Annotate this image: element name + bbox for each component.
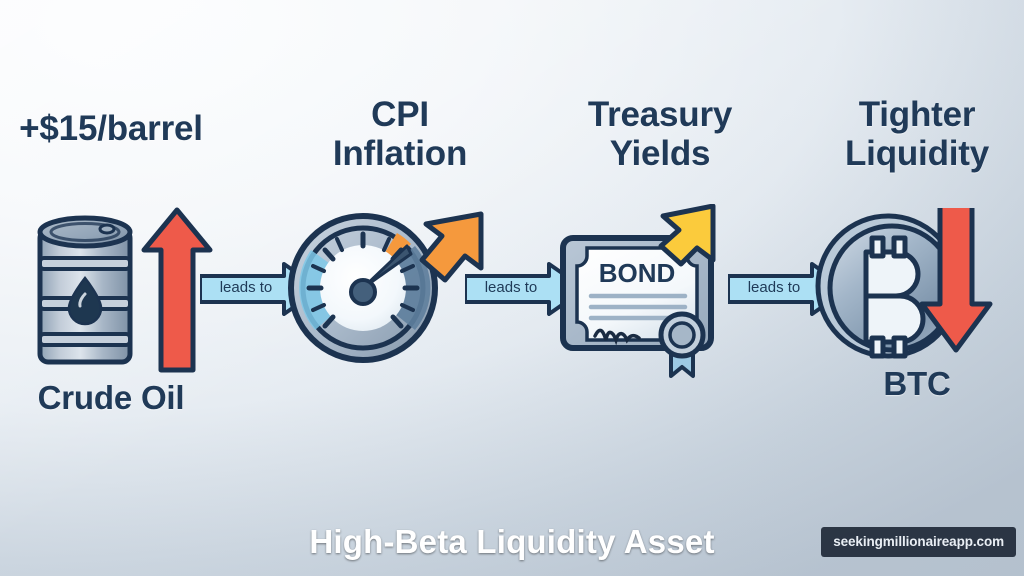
stage-treasury-top-label: Treasury Yields — [545, 96, 775, 173]
stage-btc-bottom-label: BTC — [810, 366, 1024, 402]
stage-cpi-top-label-line1: CPI — [285, 96, 515, 135]
stage-treasury-top-label-line2: Yields — [545, 135, 775, 174]
page-title: High-Beta Liquidity Asset — [309, 523, 714, 561]
stage-cpi-inflation: CPI Inflation — [285, 96, 515, 406]
stage-crude-oil-bottom-label: Crude Oil — [0, 380, 226, 416]
footer-banner: High-Beta Liquidity Asset seekingmillion… — [0, 508, 1024, 576]
oil-barrel-icon — [0, 202, 226, 377]
stage-btc-top-label: Tighter Liquidity — [810, 96, 1024, 173]
stage-crude-oil-top-label: +$15/barrel — [0, 110, 226, 149]
oil-barrel-art — [0, 202, 226, 372]
bond-heading: BOND — [599, 258, 676, 288]
bitcoin-art — [810, 208, 1024, 378]
infographic-canvas: +$15/barrel — [0, 0, 1024, 576]
stage-treasury-yields: Treasury Yields — [545, 96, 775, 406]
stage-cpi-top-label: CPI Inflation — [285, 96, 515, 173]
watermark-badge: seekingmillionaireapp.com — [821, 527, 1016, 557]
stage-treasury-top-label-line1: Treasury — [545, 96, 775, 135]
bitcoin-coin-icon — [810, 208, 1024, 383]
stage-cpi-top-label-line2: Inflation — [285, 135, 515, 174]
stage-btc-top-label-line1: Tighter — [810, 96, 1024, 135]
stage-btc: Tighter Liquidity — [810, 96, 1024, 406]
stage-crude-oil: +$15/barrel — [0, 110, 226, 420]
stage-btc-top-label-line2: Liquidity — [810, 135, 1024, 174]
